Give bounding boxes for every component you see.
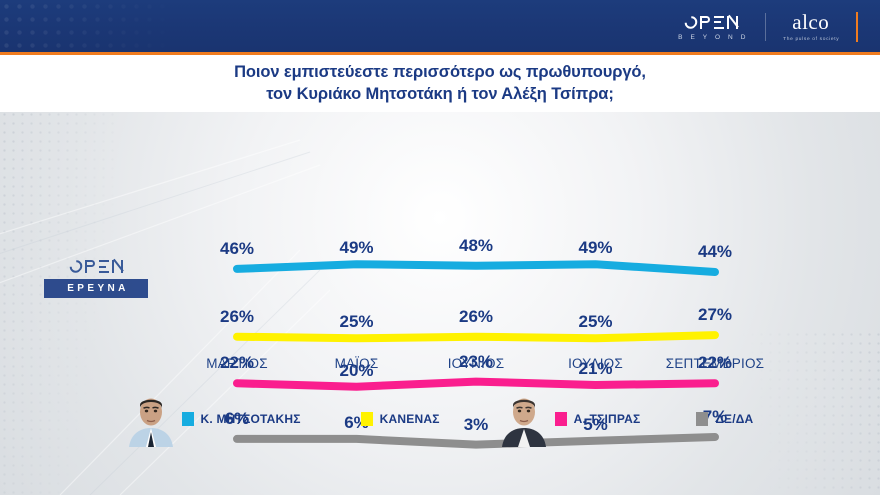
letter-p-icon xyxy=(700,16,711,29)
chart-legend: Κ. ΜΗΤΣΟΤΑΚΗΣΚΑΝΕΝΑΣΑ. ΤΣΙΠΡΑΣΔΞ/ΔΑ xyxy=(0,388,880,450)
letter-e-icon xyxy=(714,16,724,29)
legend-item-4: ΔΞ/ΔΑ xyxy=(696,412,753,426)
brand-logos: B E Y O N D alco The pulse of society xyxy=(675,9,858,45)
x-axis-label-3: ΙΟΥΝΙΟΣ xyxy=(448,356,505,371)
x-axis-label-2: ΜΑΪΟΣ xyxy=(335,356,379,371)
tsipras-portrait xyxy=(500,391,548,447)
value-label: 25% xyxy=(339,312,373,332)
legend-label-1: Κ. ΜΗΤΣΟΤΑΚΗΣ xyxy=(201,412,301,426)
open-wordmark xyxy=(685,14,738,31)
open-beyond-logo: B E Y O N D xyxy=(675,14,764,41)
value-label: 44% xyxy=(698,242,732,262)
x-axis-label-1: ΜΑΡΤΙΟΣ xyxy=(206,356,268,371)
title-line-2: τον Κυριάκο Μητσοτάκη ή τον Αλέξη Τσίπρα… xyxy=(234,84,646,106)
value-label: 49% xyxy=(339,238,373,258)
value-label: 26% xyxy=(220,307,254,327)
x-axis-label-4: ΙΟΥΛΙΟΣ xyxy=(568,356,623,371)
legend-label-4: ΔΞ/ΔΑ xyxy=(715,412,753,426)
value-label: 25% xyxy=(578,312,612,332)
legend-item-2: ΚΑΝΕΝΑΣ xyxy=(361,412,440,426)
value-label: 48% xyxy=(459,236,493,256)
value-label: 27% xyxy=(698,305,732,325)
orange-accent-bar xyxy=(856,12,858,42)
mitsotakis-portrait xyxy=(127,391,175,447)
alco-wordmark: alco xyxy=(792,12,829,33)
letter-n-icon xyxy=(727,16,738,29)
value-label: 26% xyxy=(459,307,493,327)
legend-swatch-1 xyxy=(182,412,194,426)
open-tagline: B E Y O N D xyxy=(675,34,748,41)
x-axis-label-5: ΣΕΠΤΕΜΒΡΙΟΣ xyxy=(666,356,764,371)
value-label: 49% xyxy=(578,238,612,258)
legend-swatch-4 xyxy=(696,412,708,426)
header-bar: B E Y O N D alco The pulse of society xyxy=(0,0,880,55)
title-band: Ποιον εμπιστεύεστε περισσότερο ως πρωθυπ… xyxy=(0,55,880,112)
value-label: 46% xyxy=(220,239,254,259)
infographic-stage: B E Y O N D alco The pulse of society Πο… xyxy=(0,0,880,495)
title-line-1: Ποιον εμπιστεύεστε περισσότερο ως πρωθυπ… xyxy=(234,62,646,84)
legend-swatch-2 xyxy=(361,412,373,426)
letter-o-icon xyxy=(683,13,701,31)
legend-label-2: ΚΑΝΕΝΑΣ xyxy=(380,412,440,426)
header-dot-pattern xyxy=(0,0,210,52)
legend-item-3: Α. ΤΣΙΠΡΑΣ xyxy=(500,391,641,447)
legend-swatch-3 xyxy=(555,412,567,426)
alco-logo: alco The pulse of society xyxy=(766,12,856,42)
page-title: Ποιον εμπιστεύεστε περισσότερο ως πρωθυπ… xyxy=(234,62,646,106)
legend-item-1: Κ. ΜΗΤΣΟΤΑΚΗΣ xyxy=(127,391,301,447)
legend-label-3: Α. ΤΣΙΠΡΑΣ xyxy=(574,412,641,426)
alco-tagline: The pulse of society xyxy=(783,36,839,42)
